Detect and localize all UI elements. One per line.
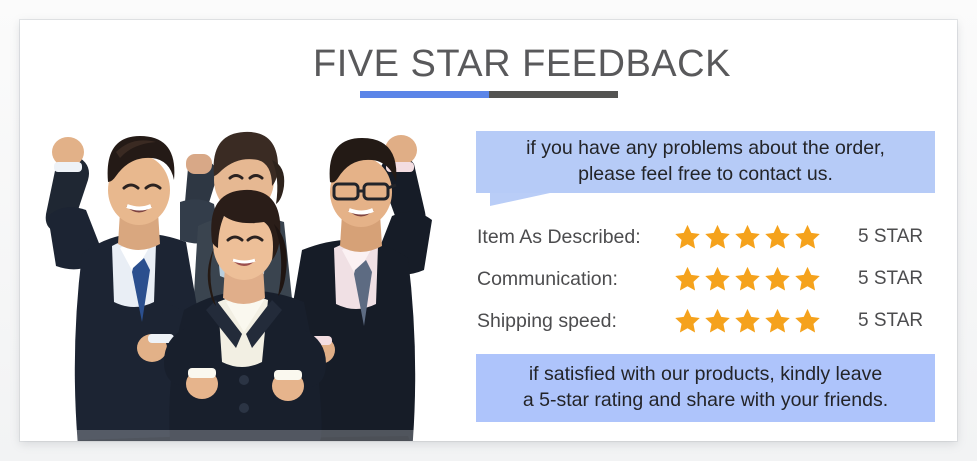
five-star-feedback-banner: FIVE STAR FEEDBACK — [0, 0, 977, 461]
star-icon — [703, 265, 732, 293]
rating-row-item-as-described: Item As Described: 5 STAR — [477, 216, 943, 258]
review-request-line-1: if satisfied with our products, kindly l… — [486, 362, 925, 388]
title-divider-blue-segment — [360, 91, 489, 98]
support-message-line-2: please feel free to contact us. — [486, 162, 925, 188]
rating-row-shipping-speed: Shipping speed: 5 STAR — [477, 300, 943, 342]
star-icon — [703, 307, 732, 335]
star-icon — [793, 223, 822, 251]
page-title: FIVE STAR FEEDBACK — [313, 43, 673, 86]
rating-row-communication: Communication: 5 STAR — [477, 258, 943, 300]
review-request-line-2: a 5-star rating and share with your frie… — [486, 388, 925, 414]
star-icon — [793, 265, 822, 293]
banner-canvas: FIVE STAR FEEDBACK — [20, 20, 957, 441]
star-icon — [673, 223, 702, 251]
star-icon — [763, 265, 792, 293]
star-rating-communication — [673, 265, 825, 293]
rating-label: Item As Described: — [477, 226, 673, 249]
rating-value: 5 STAR — [858, 268, 923, 290]
star-icon — [763, 307, 792, 335]
title-divider-dark-segment — [489, 91, 618, 98]
team-celebration-photo — [20, 108, 468, 441]
rating-value: 5 STAR — [858, 310, 923, 332]
star-rating-shipping-speed — [673, 307, 825, 335]
star-icon — [733, 307, 762, 335]
support-message-bubble: if you have any problems about the order… — [476, 131, 935, 193]
rating-label: Communication: — [477, 268, 673, 291]
review-request-bubble: if satisfied with our products, kindly l… — [476, 354, 935, 422]
star-icon — [673, 307, 702, 335]
star-icon — [673, 265, 702, 293]
star-icon — [733, 265, 762, 293]
star-icon — [763, 223, 792, 251]
star-icon — [733, 223, 762, 251]
rating-value: 5 STAR — [858, 226, 923, 248]
support-message-line-1: if you have any problems about the order… — [486, 136, 925, 162]
rating-label: Shipping speed: — [477, 310, 673, 333]
speech-bubble-tail — [490, 193, 550, 206]
star-icon — [703, 223, 732, 251]
star-icon — [793, 307, 822, 335]
star-rating-item-as-described — [673, 223, 825, 251]
title-divider — [360, 91, 618, 98]
ratings-list: Item As Described: 5 STAR Communication: — [477, 216, 943, 342]
